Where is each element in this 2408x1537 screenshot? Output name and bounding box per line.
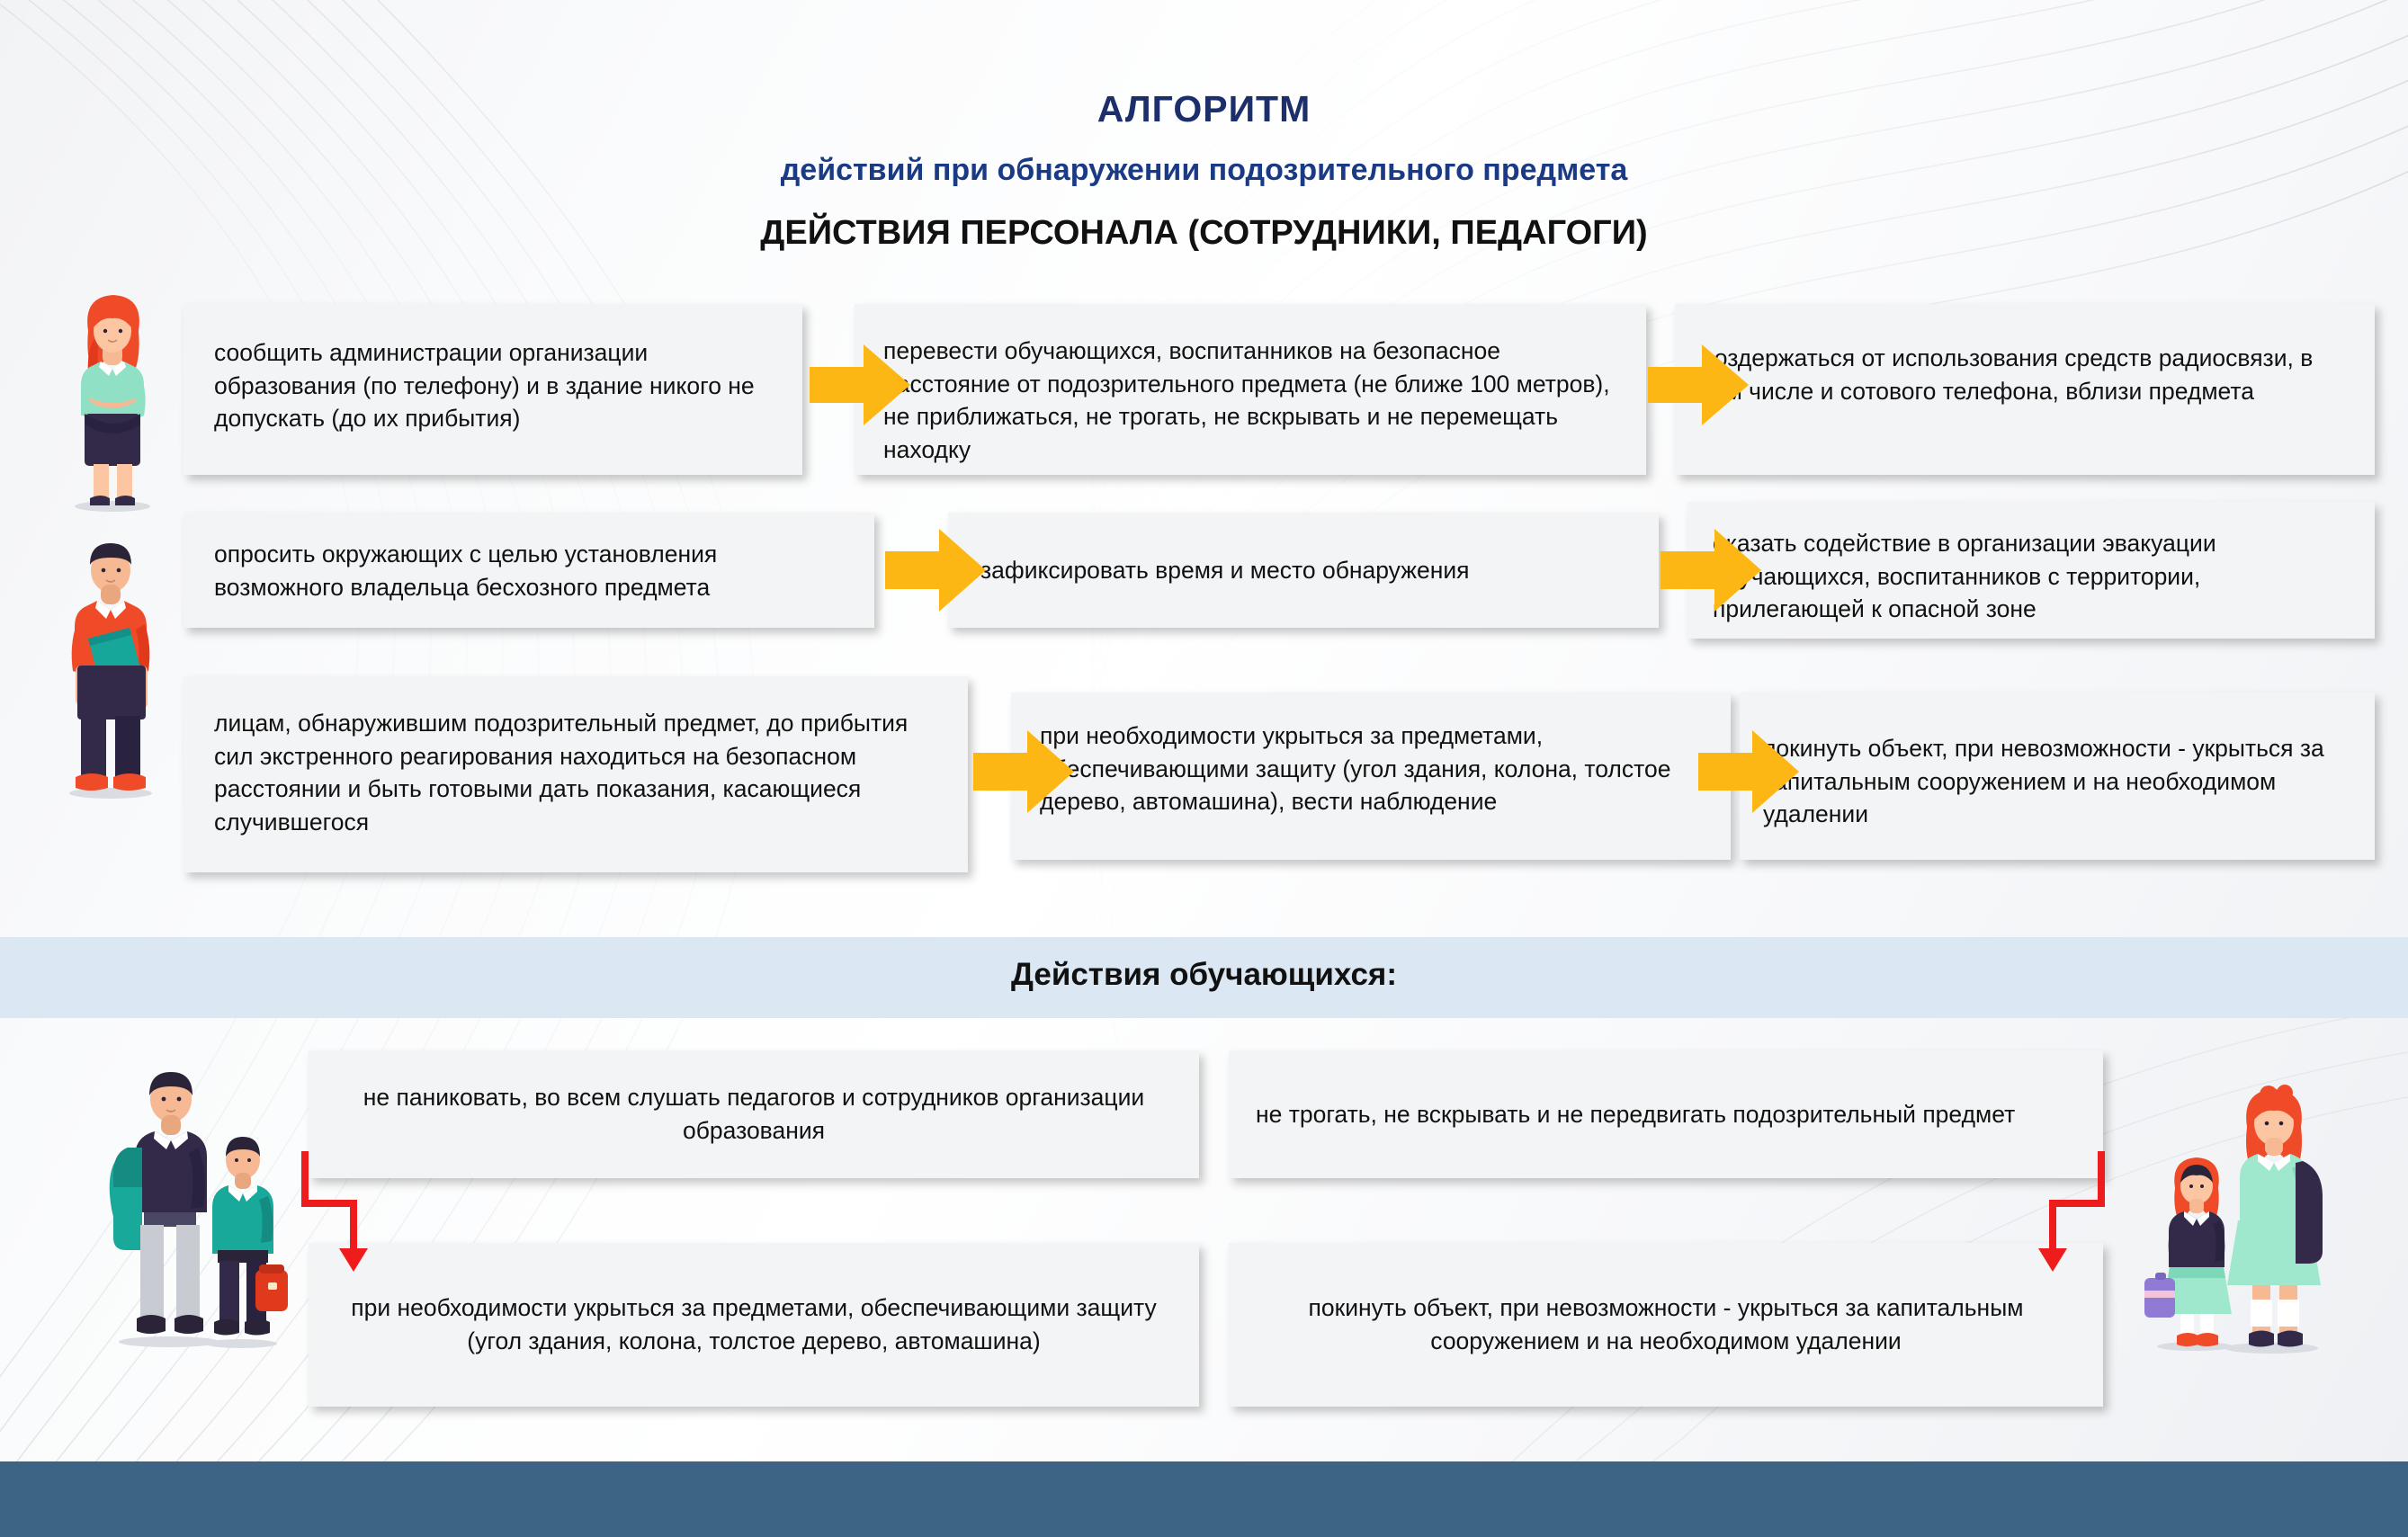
staff-section-heading: ДЕЙСТВИЯ ПЕРСОНАЛА (СОТРУДНИКИ, ПЕДАГОГИ… xyxy=(0,214,2408,253)
staff-card-1-2-text: перевести обучающихся, воспитанников на … xyxy=(883,335,1619,466)
student-card-3-text: при необходимости укрыться за предметами… xyxy=(336,1291,1172,1357)
page-title: АЛГОРИТМ xyxy=(0,88,2408,130)
staff-card-2-1-text: опросить окружающих с целью установления… xyxy=(214,538,851,603)
man-teacher-illustration xyxy=(43,531,178,800)
arrow-right-1-2 xyxy=(1648,344,1749,425)
staff-card-2-3: оказать содействие в организации эвакуац… xyxy=(1687,502,2375,639)
staff-card-2-1: опросить окружающих с целью установления… xyxy=(184,513,874,628)
staff-card-2-2-text: зафиксировать время и место обнаружения xyxy=(980,554,1469,587)
poster-canvas: АЛГОРИТМ действий при обнаружении подозр… xyxy=(0,0,2408,1537)
student-card-4-text: покинуть объект, при невозможности - укр… xyxy=(1256,1291,2076,1357)
woman-teacher-illustration xyxy=(52,288,174,513)
staff-card-1-1: сообщить администрации организации образ… xyxy=(184,304,802,475)
staff-card-1-3: воздержаться от использования средств ра… xyxy=(1675,304,2375,475)
staff-card-2-3-text: оказать содействие в организации эвакуац… xyxy=(1713,527,2351,626)
student-card-2: не трогать, не вскрывать и не передвигат… xyxy=(1229,1050,2103,1178)
staff-card-3-2-text: при необходимости укрыться за предметами… xyxy=(1040,719,1707,818)
red-connector-left xyxy=(301,1151,418,1277)
staff-card-1-3-text: воздержаться от использования средств ра… xyxy=(1702,342,2350,407)
student-card-2-text: не трогать, не вскрывать и не передвигат… xyxy=(1256,1098,2015,1131)
staff-card-3-1: лицам, обнаружившим подозрительный предм… xyxy=(184,676,968,872)
two-boys-students-illustration xyxy=(97,1061,304,1349)
staff-card-3-1-text: лицам, обнаружившим подозрительный предм… xyxy=(214,707,944,838)
staff-card-1-2: перевести обучающихся, воспитанников на … xyxy=(855,304,1646,475)
arrow-right-1-1 xyxy=(810,344,910,425)
page-subtitle: действий при обнаружении подозрительного… xyxy=(0,153,2408,188)
students-section-band: Действия обучающихся: xyxy=(0,937,2408,1018)
footer-bar xyxy=(0,1461,2408,1537)
student-card-1: не паниковать, во всем слушать педагогов… xyxy=(309,1050,1199,1178)
student-card-3: при необходимости укрыться за предметами… xyxy=(309,1243,1199,1407)
students-section-heading: Действия обучающихся: xyxy=(0,957,2408,993)
staff-card-3-3-text: покинуть объект, при невозможности - укр… xyxy=(1763,732,2353,831)
staff-card-3-2: при необходимости укрыться за предметами… xyxy=(1011,693,1731,860)
arrow-right-2-2 xyxy=(1661,529,1761,612)
poster-header: АЛГОРИТМ действий при обнаружении подозр… xyxy=(0,0,2408,270)
staff-card-1-1-text: сообщить администрации организации образ… xyxy=(214,336,774,435)
student-card-1-text: не паниковать, во всем слушать педагогов… xyxy=(336,1081,1172,1147)
red-connector-right xyxy=(2049,1151,2166,1277)
arrow-right-3-2 xyxy=(1698,730,1799,813)
arrow-right-2-1 xyxy=(885,529,986,612)
staff-card-3-3: покинуть объект, при невозможности - укр… xyxy=(1740,693,2375,860)
arrow-right-3-1 xyxy=(973,730,1074,813)
staff-card-2-2: зафиксировать время и место обнаружения xyxy=(948,513,1659,628)
student-card-4: покинуть объект, при невозможности - укр… xyxy=(1229,1243,2103,1407)
